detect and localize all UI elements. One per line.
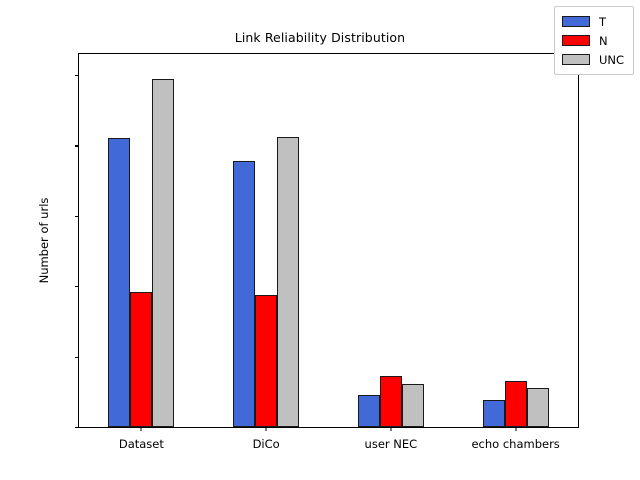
- y-axis-tick-mark: [75, 427, 79, 428]
- legend-item-n[interactable]: N: [562, 31, 624, 50]
- chart-title: Link Reliability Distribution: [0, 30, 640, 45]
- bar-n-dico: [255, 295, 277, 427]
- legend-item-t[interactable]: T: [562, 12, 624, 31]
- legend-label: N: [599, 34, 608, 48]
- bar-t-dataset: [108, 138, 130, 427]
- bar-unc-dataset: [152, 79, 174, 427]
- legend-item-unc[interactable]: UNC: [562, 50, 624, 69]
- y-axis-label: Number of urls: [37, 54, 51, 427]
- legend-label: UNC: [599, 53, 624, 67]
- legend-swatch-unc: [562, 54, 590, 65]
- x-axis-tick-label: echo chambers: [426, 437, 606, 451]
- bar-t-user-nec: [358, 395, 380, 427]
- x-axis-tick-mark: [390, 427, 391, 431]
- x-axis-tick-mark: [515, 427, 516, 431]
- bar-t-dico: [233, 161, 255, 427]
- x-axis-tick-mark: [141, 427, 142, 431]
- bar-t-echo-chambers: [483, 400, 505, 427]
- bar-n-dataset: [130, 292, 152, 427]
- chart-legend: TNUNC: [554, 6, 634, 75]
- bar-unc-echo-chambers: [527, 388, 549, 427]
- bar-n-echo-chambers: [505, 381, 527, 427]
- bars-layer: [79, 54, 578, 427]
- chart-figure: Link Reliability Distribution Number of …: [0, 0, 640, 480]
- bar-unc-dico: [277, 137, 299, 427]
- legend-swatch-n: [562, 35, 590, 46]
- plot-area: Number of urls 0k20k40k60k80k100k Datase…: [78, 53, 579, 428]
- legend-swatch-t: [562, 16, 590, 27]
- legend-label: T: [599, 15, 606, 29]
- bar-unc-user-nec: [402, 384, 424, 427]
- bar-n-user-nec: [380, 376, 402, 427]
- x-axis-tick-mark: [266, 427, 267, 431]
